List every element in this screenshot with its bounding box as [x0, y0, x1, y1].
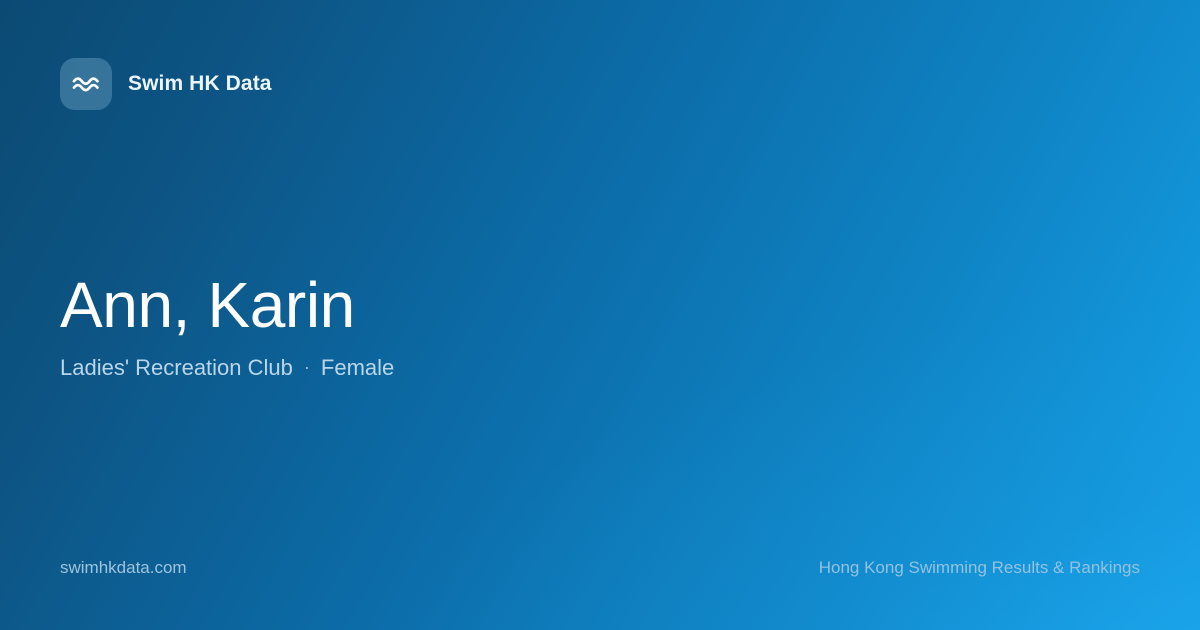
athlete-meta: Ladies' Recreation Club · Female: [60, 355, 394, 381]
brand-lockup[interactable]: Swim HK Data: [60, 58, 272, 110]
athlete-identity: Ann, Karin Ladies' Recreation Club · Fem…: [60, 272, 394, 381]
brand-logo-tile: [60, 58, 112, 110]
meta-separator: ·: [304, 358, 310, 376]
card-footer: swimhkdata.com Hong Kong Swimming Result…: [60, 558, 1140, 578]
site-tagline: Hong Kong Swimming Results & Rankings: [819, 558, 1140, 578]
brand-name: Swim HK Data: [128, 72, 272, 96]
athlete-name: Ann, Karin: [60, 272, 394, 339]
wave-icon: [71, 73, 101, 95]
social-share-card: Swim HK Data Ann, Karin Ladies' Recreati…: [0, 0, 1200, 630]
athlete-club: Ladies' Recreation Club: [60, 355, 293, 381]
site-url: swimhkdata.com: [60, 558, 187, 578]
athlete-gender: Female: [321, 355, 394, 381]
